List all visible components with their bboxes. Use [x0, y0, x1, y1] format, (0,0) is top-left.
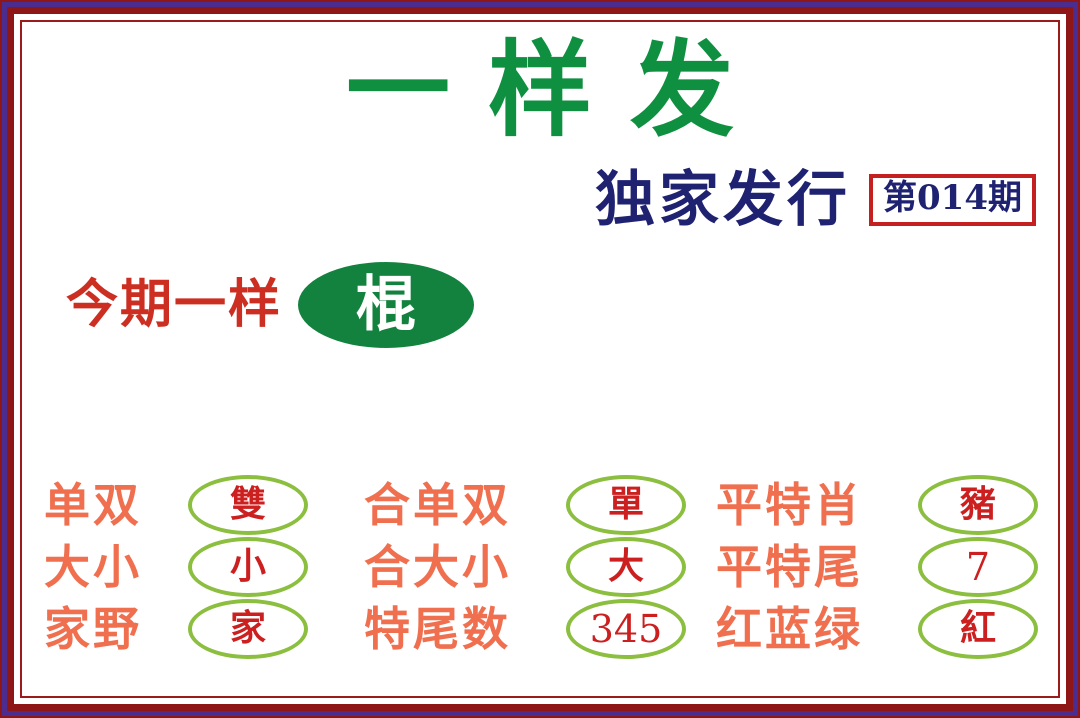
- poster-frame-outer: 一样发 独家发行 第014期 今期一样 棍 单双雙合单双單平特肖豬大小小合大小大…: [0, 0, 1080, 718]
- result-row: 单双雙: [44, 474, 364, 536]
- subtitle-row: 独家发行 第014期: [22, 170, 1036, 230]
- result-value-oval: 家: [188, 599, 308, 659]
- result-label: 大小: [44, 544, 182, 590]
- result-value-oval: 豬: [918, 475, 1038, 535]
- result-label: 特尾数: [364, 606, 560, 652]
- result-value: 大: [608, 549, 644, 585]
- result-value-oval: 大: [566, 537, 686, 597]
- results-grid: 单双雙合单双單平特肖豬大小小合大小大平特尾7家野家特尾数345红蓝绿紅: [44, 474, 1052, 660]
- result-value: 豬: [960, 487, 996, 523]
- result-value: 7: [966, 548, 990, 586]
- result-value-oval: 345: [566, 599, 686, 659]
- issue-number-badge: 第014期: [869, 174, 1036, 226]
- page-title: 一样发: [22, 38, 1058, 142]
- result-row: 特尾数345: [364, 598, 716, 660]
- poster-content-area: 一样发 独家发行 第014期 今期一样 棍 单双雙合单双單平特肖豬大小小合大小大…: [20, 20, 1060, 698]
- result-row: 合大小大: [364, 536, 716, 598]
- result-value-oval: 小: [188, 537, 308, 597]
- result-label: 红蓝绿: [716, 606, 912, 652]
- result-value: 345: [590, 610, 663, 648]
- result-row: 红蓝绿紅: [716, 598, 1060, 660]
- poster-frame-purple-band: 一样发 独家发行 第014期 今期一样 棍 单双雙合单双單平特肖豬大小小合大小大…: [2, 2, 1078, 716]
- result-value: 小: [230, 549, 266, 585]
- result-value-oval: 雙: [188, 475, 308, 535]
- result-value: 單: [608, 487, 644, 523]
- subtitle: 独家发行: [595, 170, 851, 230]
- tagline-row: 今期一样 棍: [66, 262, 474, 348]
- tagline-highlight-oval: 棍: [298, 262, 474, 348]
- result-row: 家野家: [44, 598, 364, 660]
- result-label: 单双: [44, 482, 182, 528]
- tagline-text: 今期一样: [66, 279, 282, 331]
- result-value-oval: 單: [566, 475, 686, 535]
- result-label: 合大小: [364, 544, 560, 590]
- result-label: 家野: [44, 606, 182, 652]
- result-value: 紅: [960, 611, 996, 647]
- result-label: 平特肖: [716, 482, 912, 528]
- result-value-oval: 紅: [918, 599, 1038, 659]
- result-row: 平特肖豬: [716, 474, 1060, 536]
- poster-frame-white-gap: 一样发 独家发行 第014期 今期一样 棍 单双雙合单双單平特肖豬大小小合大小大…: [14, 14, 1066, 704]
- poster-frame-red-band: 一样发 独家发行 第014期 今期一样 棍 单双雙合单双單平特肖豬大小小合大小大…: [7, 7, 1073, 711]
- result-label: 合单双: [364, 482, 560, 528]
- tagline-highlight-value: 棍: [356, 275, 416, 335]
- result-value: 雙: [230, 487, 266, 523]
- result-value: 家: [230, 611, 266, 647]
- result-row: 大小小: [44, 536, 364, 598]
- result-row: 平特尾7: [716, 536, 1060, 598]
- result-label: 平特尾: [716, 544, 912, 590]
- result-value-oval: 7: [918, 537, 1038, 597]
- result-row: 合单双單: [364, 474, 716, 536]
